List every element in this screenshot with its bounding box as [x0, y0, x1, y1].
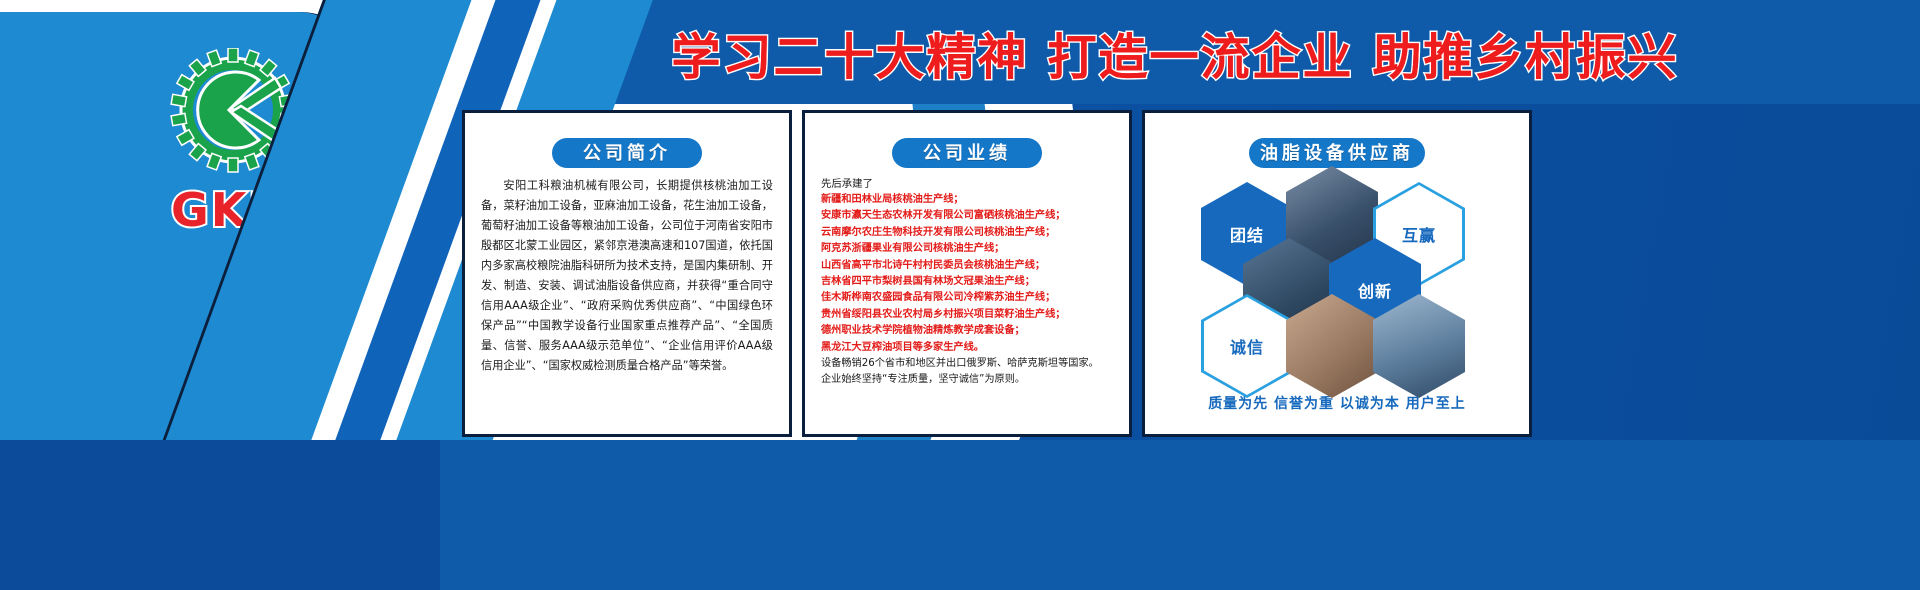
cards-container: 公司简介 安阳工科粮油机械有限公司，长期提供核桃油加工设备，菜籽油加工设备，亚麻…: [462, 110, 1890, 437]
list-item: 安康市瀛天生态农林开发有限公司富硒核桃油生产线；: [821, 208, 1113, 224]
achievements-list: 新疆和田林业局核桃油生产线； 安康市瀛天生态农林开发有限公司富硒核桃油生产线； …: [821, 192, 1113, 356]
card-title-company-achievements: 公司业绩: [892, 138, 1042, 168]
bottom-inner-strip: [430, 440, 1920, 590]
list-item: 黑龙江大豆榨油项目等多家生产线。: [821, 340, 1113, 356]
hexagon-integrity-label: 诚信: [1204, 297, 1290, 395]
poster-root: 学习二十大精神 打造一流企业 助推乡村振兴 学习二十大精神 打造一流企业 助推乡…: [0, 0, 1920, 590]
bottom-left-block: [0, 440, 440, 590]
list-item: 云南摩尔农庄生物科技开发有限公司核桃油生产线；: [821, 225, 1113, 241]
list-item: 贵州省绥阳县农业农村局乡村振兴项目菜籽油生产线；: [821, 307, 1113, 323]
list-item: 吉林省四平市梨树县国有林场文冠果油生产线；: [821, 274, 1113, 290]
list-item: 德州职业技术学院植物油精炼教学成套设备；: [821, 323, 1113, 339]
achievements-footer-2: 企业始终坚持“专注质量，坚守诚信”为原则。: [821, 372, 1113, 388]
hexagon-unity-label: 团结: [1230, 222, 1264, 246]
page-title: 学习二十大精神 打造一流企业 助推乡村振兴: [430, 18, 1920, 89]
list-item: 阿克苏浙疆果业有限公司核桃油生产线；: [821, 241, 1113, 257]
supplier-slogan: 质量为先 信誉为重 以诚为本 用户至上: [1161, 393, 1513, 413]
achievements-footer-1: 设备畅销26个省市和地区并出口俄罗斯、哈萨克斯坦等国家。: [821, 356, 1113, 372]
list-item: 山西省高平市北诗午村村民委员会核桃油生产线；: [821, 258, 1113, 274]
card-company-achievements: 公司业绩 先后承建了 新疆和田林业局核桃油生产线； 安康市瀛天生态农林开发有限公…: [802, 110, 1132, 437]
list-item: 新疆和田林业局核桃油生产线；: [821, 192, 1113, 208]
achievements-intro: 先后承建了: [821, 176, 1113, 192]
card-title-equipment-supplier: 油脂设备供应商: [1249, 138, 1425, 168]
company-profile-body: 安阳工科粮油机械有限公司，长期提供核桃油加工设备，菜籽油加工设备，亚麻油加工设备…: [481, 176, 773, 376]
card-company-profile: 公司简介 安阳工科粮油机械有限公司，长期提供核桃油加工设备，菜籽油加工设备，亚麻…: [462, 110, 792, 437]
hexagon-cluster: 团结 互赢 创新 诚信: [1161, 176, 1513, 391]
card-title-company-profile: 公司简介: [552, 138, 702, 168]
list-item: 佳木斯桦南农盛园食品有限公司冷榨紫苏油生产线；: [821, 290, 1113, 306]
hexagon-innovation-label: 创新: [1358, 278, 1392, 302]
card-equipment-supplier: 油脂设备供应商 团结 互赢 创新: [1142, 110, 1532, 437]
